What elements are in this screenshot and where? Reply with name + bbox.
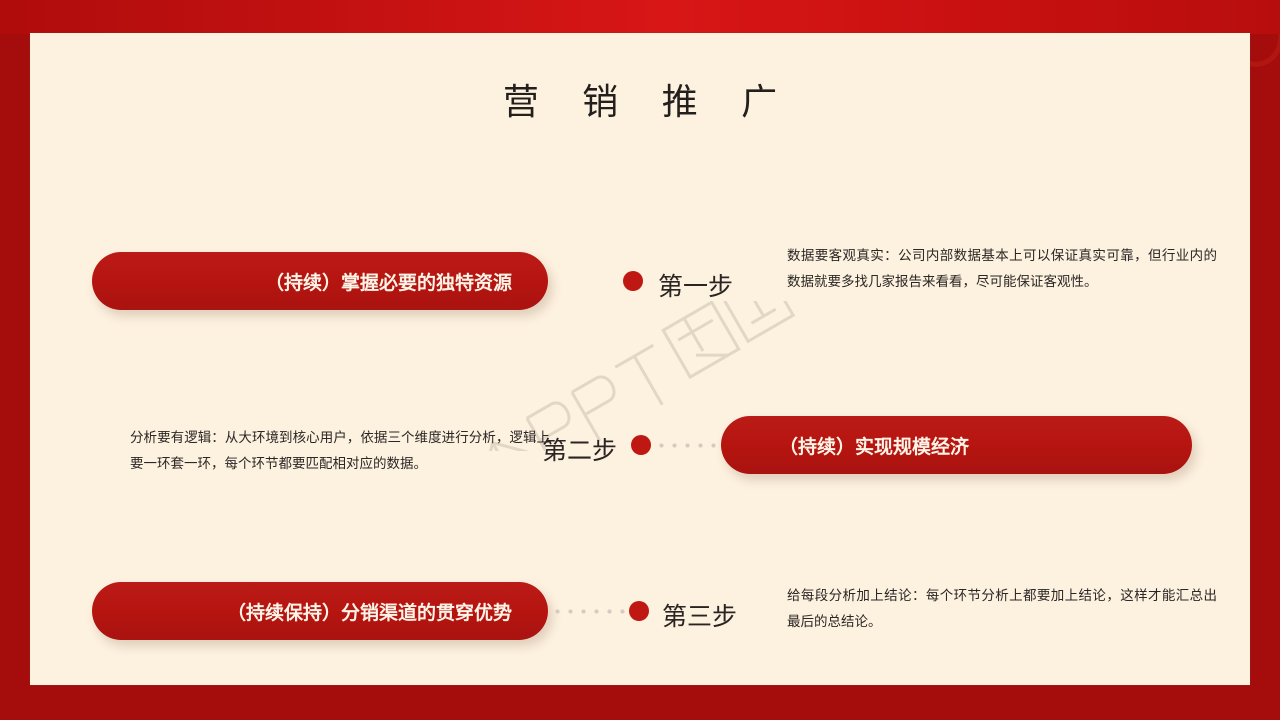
pill-label-2[interactable]: （持续）实现规模经济 <box>721 416 1192 474</box>
step-dot-icon-1 <box>623 271 643 291</box>
pill-label-3[interactable]: （持续保持）分销渠道的贯穿优势 <box>92 582 548 640</box>
step-row-2: 分析要有逻辑：从大环境到核心用户，依据三个维度进行分析，逻辑上要一环套一环，每个… <box>30 385 1250 495</box>
content-panel: 营 销 推 广 （持续）掌握必要的独特资源 第一步 数据要客观真实：公司内部数据… <box>30 33 1250 685</box>
slide-canvas: 营 销 推 广 （持续）掌握必要的独特资源 第一步 数据要客观真实：公司内部数据… <box>0 0 1280 720</box>
step-paragraph-1: 数据要客观真实：公司内部数据基本上可以保证真实可靠，但行业内的数据就要多找几家报… <box>787 243 1217 296</box>
page-title: 营 销 推 广 <box>30 73 1250 125</box>
step-dot-icon-3 <box>629 601 649 621</box>
top-red-band <box>0 0 1280 34</box>
step-row-3: （持续保持）分销渠道的贯穿优势 第三步 给每段分析加上结论：每个环节分析上都要加… <box>30 551 1250 661</box>
step-paragraph-3: 给每段分析加上结论：每个环节分析上都要加上结论，这样才能汇总出最后的总结论。 <box>787 583 1217 636</box>
dotted-connector-2 <box>655 443 727 448</box>
step-dot-icon-2 <box>631 435 651 455</box>
step-label-1: 第一步 <box>658 267 733 303</box>
step-paragraph-2: 分析要有逻辑：从大环境到核心用户，依据三个维度进行分析，逻辑上要一环套一环，每个… <box>130 425 550 478</box>
pill-label-1[interactable]: （持续）掌握必要的独特资源 <box>92 252 548 310</box>
step-label-3: 第三步 <box>662 597 737 633</box>
step-row-1: （持续）掌握必要的独特资源 第一步 数据要客观真实：公司内部数据基本上可以保证真… <box>30 221 1250 331</box>
step-label-2: 第二步 <box>542 431 617 467</box>
dotted-connector-3 <box>551 609 629 614</box>
